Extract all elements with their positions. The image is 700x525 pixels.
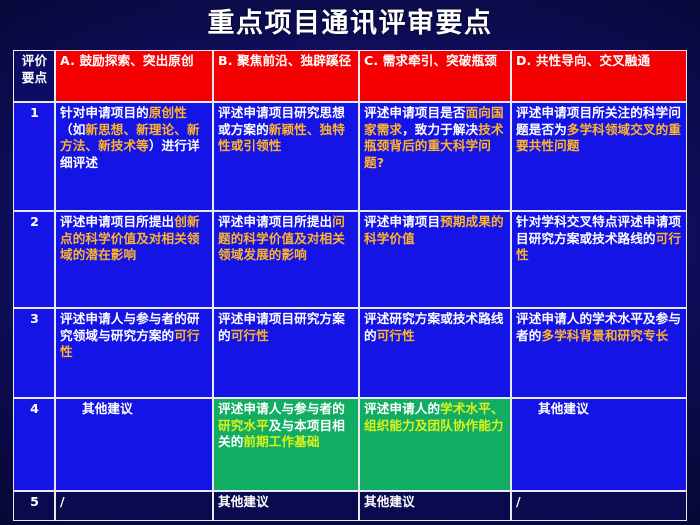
cell-r4-a: 其他建议 xyxy=(55,398,213,491)
slide-canvas: 重点项目通讯评审要点 评价要点A. 鼓励探索、突出原创B. 聚焦前沿、独辟蹊径C… xyxy=(0,0,700,525)
text-segment: 可行性 xyxy=(231,328,269,343)
text-segment: 其他建议 xyxy=(218,494,269,509)
cell-r2-c: 评述申请项目预期成果的科学价值 xyxy=(359,211,511,308)
title-bar: 重点项目通讯评审要点 xyxy=(0,0,700,46)
cell-r3-d: 评述申请人的学术水平及参与者的多学科背景和研究专长 xyxy=(511,308,687,398)
text-segment: 评述申请项目所提出 xyxy=(60,214,174,229)
cell-r4-d: 其他建议 xyxy=(511,398,687,491)
cell-r5-b: 其他建议 xyxy=(213,491,359,521)
text-segment: 评述申请项目所提出 xyxy=(218,214,332,229)
row-index-5: 5 xyxy=(13,491,55,521)
column-header-b: B. 聚焦前沿、独辟蹊径 xyxy=(213,50,359,102)
text-segment: ，致力于解决 xyxy=(402,122,478,137)
cell-r2-a: 评述申请项目所提出创新点的科学价值及对相关领域的潜在影响 xyxy=(55,211,213,308)
text-segment: 可行性 xyxy=(377,328,415,343)
cell-r5-a: / xyxy=(55,491,213,521)
text-segment: 其他建议 xyxy=(82,401,133,416)
cell-r3-b: 评述申请项目研究方案的可行性 xyxy=(213,308,359,398)
column-header-c: C. 需求牵引、突破瓶颈 xyxy=(359,50,511,102)
table-row: 5/其他建议其他建议/ xyxy=(13,491,687,521)
row-index-3: 3 xyxy=(13,308,55,398)
text-segment: 评述申请项目是否 xyxy=(364,105,466,120)
cell-r1-a: 针对申请项目的原创性（如新思想、新理论、新方法、新技术等）进行详细评述 xyxy=(55,102,213,211)
cell-r4-c: 评述申请人的学术水平、组织能力及团队协作能力 xyxy=(359,398,511,491)
cell-r1-b: 评述申请项目研究思想或方案的新颖性、独特性或引领性 xyxy=(213,102,359,211)
cell-r2-b: 评述申请项目所提出问题的科学价值及对相关领域发展的影响 xyxy=(213,211,359,308)
text-segment: 多学科背景和研究专长 xyxy=(541,328,668,343)
column-header-d: D. 共性导向、交叉融通 xyxy=(511,50,687,102)
text-segment: / xyxy=(516,494,521,509)
text-segment: 评述申请人与参与者的 xyxy=(218,401,345,416)
table-row: 4其他建议评述申请人与参与者的研究水平及与本项目相关的前期工作基础评述申请人的学… xyxy=(13,398,687,491)
cell-r3-c: 评述研究方案或技术路线的可行性 xyxy=(359,308,511,398)
row-index-2: 2 xyxy=(13,211,55,308)
text-segment: 其他建议 xyxy=(364,494,415,509)
cell-r1-d: 评述申请项目所关注的科学问题是否为多学科领域交叉的重要共性问题 xyxy=(511,102,687,211)
text-segment: 原创性 xyxy=(149,105,187,120)
cell-r5-c: 其他建议 xyxy=(359,491,511,521)
cell-r5-d: / xyxy=(511,491,687,521)
text-segment: 前期工作基础 xyxy=(243,434,319,449)
text-segment: 研究水平 xyxy=(218,418,269,433)
text-segment: 针对申请项目的 xyxy=(60,105,149,120)
table-row: 1针对申请项目的原创性（如新思想、新理论、新方法、新技术等）进行详细评述评述申请… xyxy=(13,102,687,211)
text-segment: / xyxy=(60,494,65,509)
table-row: 2评述申请项目所提出创新点的科学价值及对相关领域的潜在影响评述申请项目所提出问题… xyxy=(13,211,687,308)
review-criteria-table: 评价要点A. 鼓励探索、突出原创B. 聚焦前沿、独辟蹊径C. 需求牵引、突破瓶颈… xyxy=(13,50,687,521)
text-segment: 其他建议 xyxy=(538,401,589,416)
page-title: 重点项目通讯评审要点 xyxy=(208,10,493,37)
cell-r2-d: 针对学科交叉特点评述申请项目研究方案或技术路线的可行性 xyxy=(511,211,687,308)
text-segment: （如 xyxy=(60,122,85,137)
row-index-1: 1 xyxy=(13,102,55,211)
table-body: 评价要点A. 鼓励探索、突出原创B. 聚焦前沿、独辟蹊径C. 需求牵引、突破瓶颈… xyxy=(13,50,687,521)
cell-r4-b: 评述申请人与参与者的研究水平及与本项目相关的前期工作基础 xyxy=(213,398,359,491)
text-segment: 评述申请项目 xyxy=(364,214,440,229)
text-segment: 评述申请人的 xyxy=(364,401,440,416)
cell-r3-a: 评述申请人与参与者的研究领域与研究方案的可行性 xyxy=(55,308,213,398)
table-row: 3评述申请人与参与者的研究领域与研究方案的可行性评述申请项目研究方案的可行性评述… xyxy=(13,308,687,398)
row-index-4: 4 xyxy=(13,398,55,491)
table-corner-header: 评价要点 xyxy=(13,50,55,102)
cell-r1-c: 评述申请项目是否面向国家需求，致力于解决技术瓶颈背后的重大科学问题? xyxy=(359,102,511,211)
column-header-a: A. 鼓励探索、突出原创 xyxy=(55,50,213,102)
